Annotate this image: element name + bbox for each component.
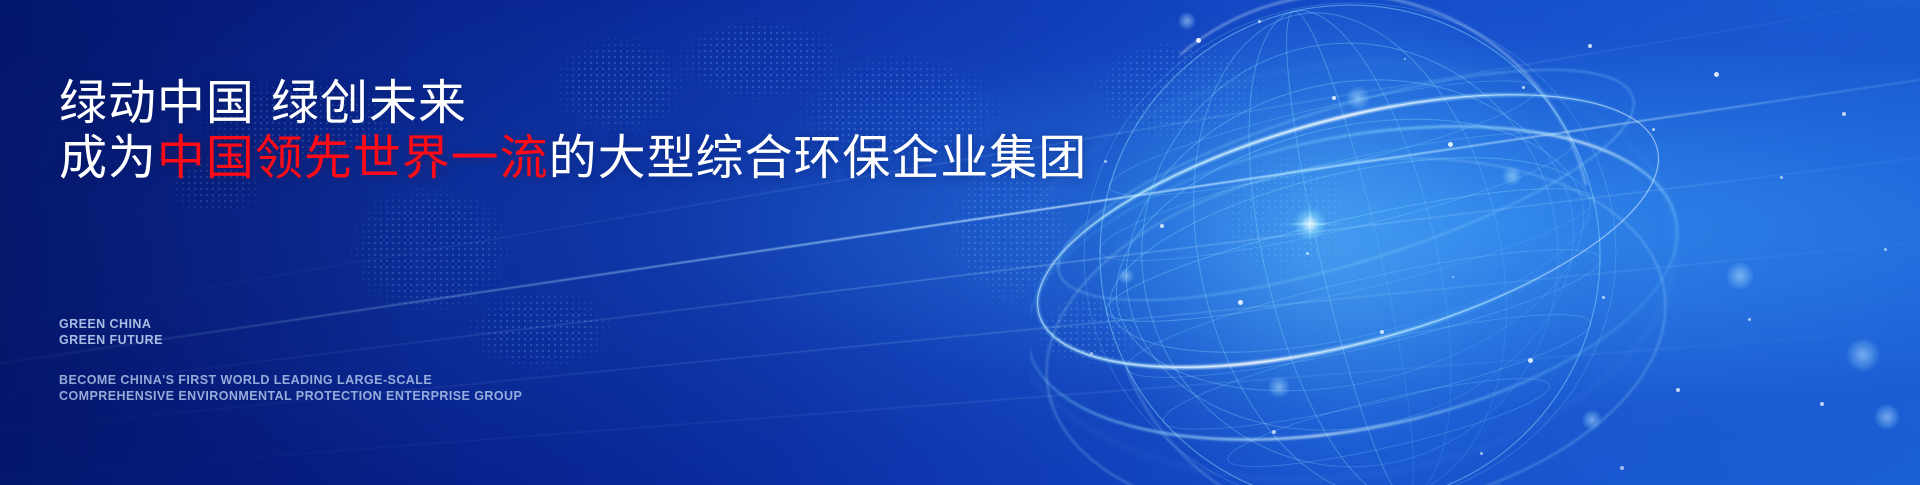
english-description: BECOME CHINA'S FIRST WORLD LEADING LARGE… bbox=[59, 372, 522, 405]
english-slogan-line-1: GREEN CHINA bbox=[59, 316, 163, 332]
headline-suffix: 的大型综合环保企业集团 bbox=[549, 130, 1088, 186]
english-desc-line-2: COMPREHENSIVE ENVIRONMENTAL PROTECTION E… bbox=[59, 388, 522, 404]
english-slogan: GREEN CHINA GREEN FUTURE bbox=[59, 316, 163, 349]
english-desc-line-1: BECOME CHINA'S FIRST WORLD LEADING LARGE… bbox=[59, 372, 522, 388]
headline-prefix: 成为 bbox=[59, 130, 157, 186]
headline-line-2: 成为中国领先世界一流的大型综合环保企业集团 bbox=[59, 133, 1087, 183]
headline-line-1: 绿动中国 绿创未来 bbox=[59, 78, 467, 128]
headline-highlight: 中国领先世界一流 bbox=[157, 130, 549, 186]
particle-field bbox=[0, 0, 1920, 485]
english-slogan-line-2: GREEN FUTURE bbox=[59, 332, 163, 348]
hero-banner: 绿动中国 绿创未来 成为中国领先世界一流的大型综合环保企业集团 GREEN CH… bbox=[0, 0, 1920, 485]
